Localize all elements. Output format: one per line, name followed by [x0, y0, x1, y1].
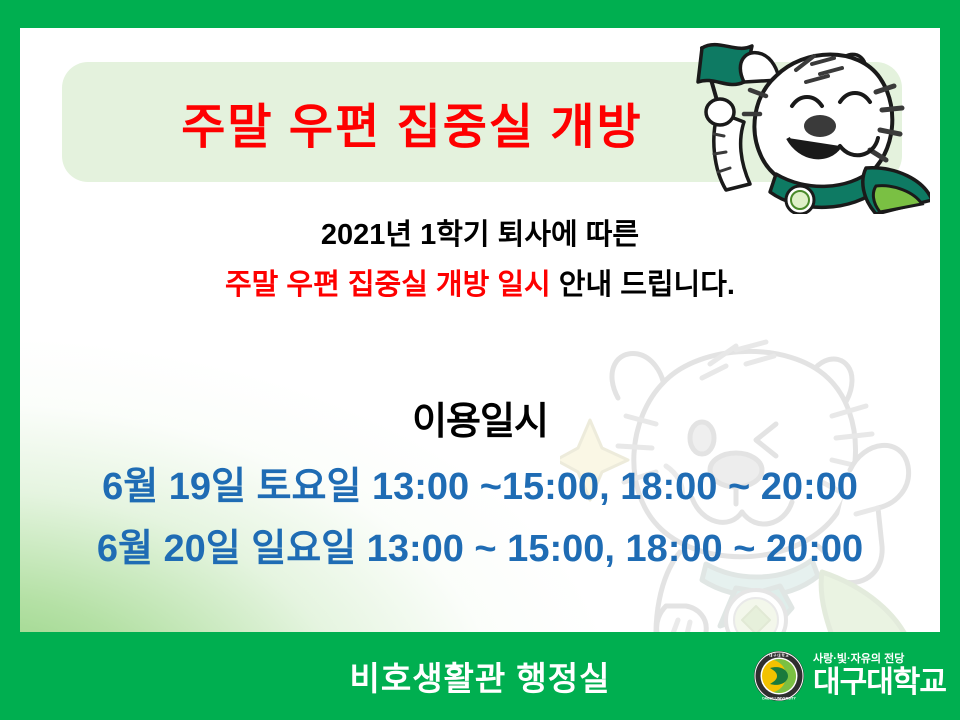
university-name: 대구대학교: [813, 668, 946, 698]
intro-accent-text: 주말 우편 집중실 개방 일시: [225, 269, 551, 301]
intro-line-2: 주말 우편 집중실 개방 일시 안내 드립니다.: [20, 260, 940, 310]
schedule-heading: 이용일시: [20, 390, 940, 445]
intro-line-1: 2021년 1학기 퇴사에 따른: [20, 210, 940, 260]
university-tagline: 사랑·빛·자유의 전당: [813, 654, 946, 665]
content-panel: 주말 우편 집중실 개방: [20, 28, 940, 632]
university-wordmark: 사랑·빛·자유의 전당 대구대학교: [813, 654, 946, 698]
university-logo: · 대 구 대 학 교 · DAEGU UNIVERSITY 사랑·빛·자유의 …: [753, 644, 946, 708]
footer-bar: 비호생활관 행정실 · 대 구 대 학 교 · DAEGU UNIVERSITY: [0, 632, 960, 720]
university-seal-icon: · 대 구 대 학 교 · DAEGU UNIVERSITY: [753, 650, 805, 702]
svg-text:· 대 구 대 학 교 ·: · 대 구 대 학 교 ·: [767, 653, 791, 658]
intro-paragraph: 2021년 1학기 퇴사에 따른 주말 우편 집중실 개방 일시 안내 드립니다…: [20, 210, 940, 310]
svg-text:DAEGU UNIVERSITY: DAEGU UNIVERSITY: [762, 697, 796, 701]
intro-rest-text: 안내 드립니다.: [551, 269, 735, 301]
schedule-line-sunday: 6월 20일 일요일 13:00 ~ 15:00, 18:00 ~ 20:00: [20, 518, 940, 580]
page-title: 주말 우편 집중실 개방: [62, 62, 762, 182]
schedule-line-saturday: 6월 19일 토요일 13:00 ~15:00, 18:00 ~ 20:00: [20, 456, 940, 518]
poster-root: 주말 우편 집중실 개방: [0, 0, 960, 720]
schedule-list: 6월 19일 토요일 13:00 ~15:00, 18:00 ~ 20:00 6…: [20, 456, 940, 580]
